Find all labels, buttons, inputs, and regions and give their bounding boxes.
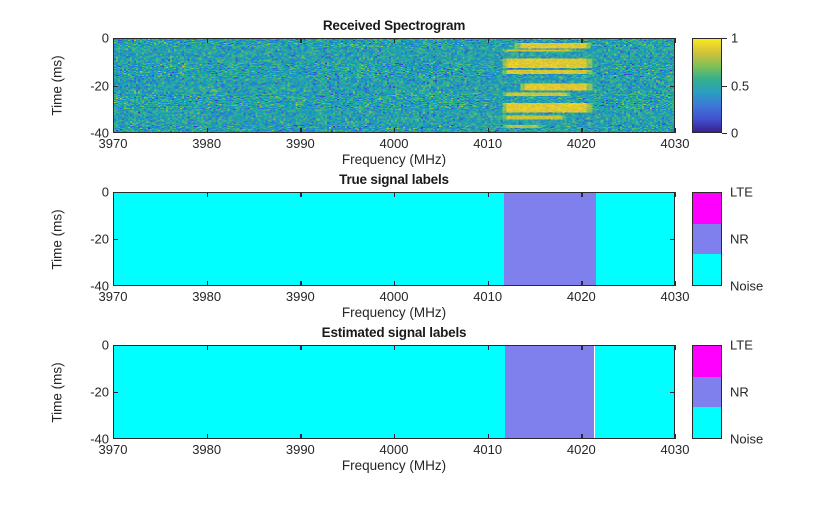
- xtick-mark: [207, 192, 208, 197]
- label-region-nr: [505, 346, 595, 439]
- label-region-noise: [114, 193, 504, 286]
- colorbar-received-spectrogram: 1 0.5 0: [692, 38, 722, 133]
- xtick-mark: [488, 128, 489, 133]
- xtick-mark: [394, 434, 395, 439]
- xtick-mark: [675, 345, 676, 350]
- xtick-label: 4020: [567, 136, 596, 151]
- xtick-label: 3990: [286, 136, 315, 151]
- legend-color-strip-true: [692, 192, 722, 286]
- ytick-mark: [113, 132, 118, 133]
- ytick-label: -40: [65, 432, 109, 447]
- ytick-label: 0: [65, 185, 109, 200]
- xtick-label: 4000: [380, 289, 409, 304]
- xtick-mark: [581, 434, 582, 439]
- legend-color-strip-estimated: [692, 345, 722, 439]
- legend-swatch-noise: [693, 407, 721, 438]
- legend-true-signal-labels: LTE NR Noise: [692, 192, 722, 286]
- label-region-noise: [595, 346, 676, 439]
- legend-label-nr: NR: [730, 232, 749, 247]
- xtick-mark: [394, 128, 395, 133]
- subplot-estimated-signal-labels: Estimated signal labels: [113, 345, 675, 439]
- xtick-mark: [394, 192, 395, 197]
- colorbar-label-min: 0: [731, 126, 738, 141]
- xtick-label: 3990: [286, 289, 315, 304]
- ytick-mark: [113, 239, 118, 240]
- xtick-mark: [675, 128, 676, 133]
- legend-estimated-signal-labels: LTE NR Noise: [692, 345, 722, 439]
- ylabel-subplot3: Time (ms): [50, 333, 65, 453]
- matlab-figure: Received Spectrogram 3970398039904000401…: [0, 0, 840, 506]
- xtick-mark: [675, 192, 676, 197]
- xtick-label: 4020: [567, 289, 596, 304]
- ytick-label: 0: [65, 31, 109, 46]
- axes-received-spectrogram: [113, 38, 675, 133]
- xtick-mark: [581, 38, 582, 43]
- ytick-label: -20: [65, 385, 109, 400]
- ytick-mark: [670, 285, 675, 286]
- xtick-mark: [394, 345, 395, 350]
- label-regions-true: [114, 193, 674, 285]
- xtick-label: 4030: [661, 289, 690, 304]
- ytick-mark: [670, 345, 675, 346]
- xtick-label: 4000: [380, 442, 409, 457]
- xtick-mark: [581, 192, 582, 197]
- ytick-mark: [113, 192, 118, 193]
- xtick-mark: [675, 281, 676, 286]
- colorbar-gradient-strip: [692, 38, 722, 133]
- xtick-label: 4010: [473, 289, 502, 304]
- spectrogram-image: [114, 39, 674, 132]
- ytick-mark: [670, 86, 675, 87]
- xtick-label: 3980: [192, 442, 221, 457]
- xtick-label: 4010: [473, 442, 502, 457]
- ytick-label: -20: [65, 232, 109, 247]
- xtick-mark: [488, 345, 489, 350]
- ylabel-subplot1: Time (ms): [50, 26, 65, 146]
- legend-swatch-nr: [693, 377, 721, 408]
- xtick-mark: [394, 38, 395, 43]
- label-regions-estimated: [114, 346, 674, 438]
- ytick-mark: [113, 86, 118, 87]
- xtick-mark: [394, 281, 395, 286]
- plot-title-estimated-signal-labels: Estimated signal labels: [113, 325, 675, 340]
- ytick-mark: [670, 239, 675, 240]
- xtick-label: 4030: [661, 442, 690, 457]
- ytick-mark: [670, 392, 675, 393]
- ytick-mark: [113, 392, 118, 393]
- plot-title-true-signal-labels: True signal labels: [113, 172, 675, 187]
- ytick-mark: [113, 285, 118, 286]
- legend-label-noise: Noise: [730, 432, 763, 447]
- ytick-mark: [113, 38, 118, 39]
- xlabel-subplot2: Frequency (MHz): [113, 305, 675, 320]
- ytick-mark: [670, 38, 675, 39]
- xtick-mark: [581, 345, 582, 350]
- ytick-mark: [670, 132, 675, 133]
- ytick-mark: [113, 438, 118, 439]
- legend-label-lte: LTE: [730, 338, 753, 353]
- colorbar-tick-0.5: [722, 86, 727, 87]
- legend-label-nr: NR: [730, 385, 749, 400]
- colorbar-label-mid: 0.5: [731, 78, 749, 93]
- xtick-mark: [675, 38, 676, 43]
- legend-swatch-nr: [693, 224, 721, 255]
- subplot-true-signal-labels: True signal labels: [113, 192, 675, 286]
- xlabel-subplot1: Frequency (MHz): [113, 152, 675, 167]
- subplot-received-spectrogram: Received Spectrogram: [113, 38, 675, 133]
- axes-true-signal-labels: [113, 192, 675, 286]
- xtick-mark: [300, 434, 301, 439]
- ytick-mark: [670, 192, 675, 193]
- xtick-mark: [207, 38, 208, 43]
- xtick-mark: [488, 281, 489, 286]
- xtick-mark: [300, 38, 301, 43]
- label-region-nr: [504, 193, 597, 286]
- axes-estimated-signal-labels: [113, 345, 675, 439]
- xtick-mark: [488, 434, 489, 439]
- ylabel-subplot2: Time (ms): [50, 180, 65, 300]
- ytick-label: -40: [65, 126, 109, 141]
- xtick-mark: [675, 434, 676, 439]
- ytick-mark: [670, 438, 675, 439]
- legend-swatch-noise: [693, 254, 721, 285]
- colorbar-tick-0: [722, 133, 727, 134]
- label-region-noise: [596, 193, 675, 286]
- xtick-mark: [488, 192, 489, 197]
- label-region-noise: [114, 346, 505, 439]
- xtick-mark: [300, 128, 301, 133]
- xtick-mark: [300, 345, 301, 350]
- xtick-mark: [581, 281, 582, 286]
- xtick-label: 3980: [192, 289, 221, 304]
- colorbar-label-max: 1: [731, 31, 738, 46]
- ytick-label: -40: [65, 279, 109, 294]
- legend-swatch-lte: [693, 346, 721, 377]
- xtick-mark: [207, 434, 208, 439]
- xtick-mark: [207, 128, 208, 133]
- xtick-mark: [207, 345, 208, 350]
- ytick-mark: [113, 345, 118, 346]
- colorbar-tick-1: [722, 38, 727, 39]
- xtick-label: 4000: [380, 136, 409, 151]
- xtick-mark: [300, 192, 301, 197]
- ytick-label: -20: [65, 78, 109, 93]
- xtick-label: 4010: [473, 136, 502, 151]
- xtick-mark: [207, 281, 208, 286]
- xtick-mark: [581, 128, 582, 133]
- xtick-mark: [488, 38, 489, 43]
- legend-label-noise: Noise: [730, 279, 763, 294]
- xtick-mark: [300, 281, 301, 286]
- plot-title-received-spectrogram: Received Spectrogram: [113, 18, 675, 33]
- xtick-label: 4030: [661, 136, 690, 151]
- xtick-label: 3990: [286, 442, 315, 457]
- legend-swatch-lte: [693, 193, 721, 224]
- xlabel-subplot3: Frequency (MHz): [113, 458, 675, 473]
- xtick-label: 3980: [192, 136, 221, 151]
- legend-label-lte: LTE: [730, 185, 753, 200]
- xtick-label: 4020: [567, 442, 596, 457]
- ytick-label: 0: [65, 338, 109, 353]
